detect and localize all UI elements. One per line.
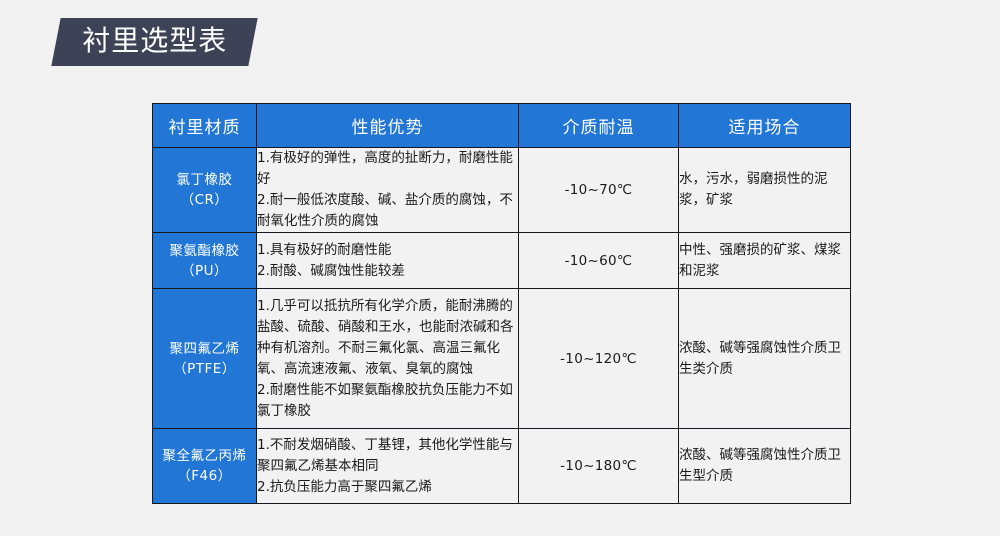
performance-line: 2.耐一般低浓度酸、碱、盐介质的腐蚀，不耐氧化性介质的腐蚀 xyxy=(257,190,518,232)
table-row: 氯丁橡胶 （CR） 1.有极好的弹性，高度的扯断力，耐磨性能好 2.耐一般低浓度… xyxy=(153,148,851,233)
cell-material: 聚全氟乙丙烯 （F46） xyxy=(153,429,257,504)
performance-line: 1.有极好的弹性，高度的扯断力，耐磨性能好 xyxy=(257,148,518,190)
column-header-material: 衬里材质 xyxy=(153,104,257,148)
lining-selection-table: 衬里材质 性能优势 介质耐温 适用场合 氯丁橡胶 （CR） 1.有极好的弹性，高… xyxy=(152,103,851,504)
cell-material: 聚四氟乙烯 （PTFE） xyxy=(153,289,257,429)
table-row: 聚氨酯橡胶 （PU） 1.具有极好的耐磨性能 2.耐酸、碱腐蚀性能较差 -10~… xyxy=(153,233,851,289)
material-name: 氯丁橡胶 xyxy=(177,172,233,188)
material-abbr: （PU） xyxy=(153,261,256,281)
cell-performance: 1.几乎可以抵抗所有化学介质，能耐沸腾的盐酸、硫酸、硝酸和王水，也能耐浓碱和各种… xyxy=(257,289,519,429)
column-header-usage: 适用场合 xyxy=(679,104,851,148)
performance-line: 2.抗负压能力高于聚四氟乙烯 xyxy=(257,477,518,498)
page-title: 衬里选型表 xyxy=(82,24,227,58)
material-name: 聚全氟乙丙烯 xyxy=(163,448,247,464)
column-header-performance: 性能优势 xyxy=(257,104,519,148)
cell-performance: 1.不耐发烟硝酸、丁基锂，其他化学性能与聚四氟乙烯基本相同 2.抗负压能力高于聚… xyxy=(257,429,519,504)
performance-line: 1.具有极好的耐磨性能 xyxy=(257,240,518,261)
performance-line: 1.不耐发烟硝酸、丁基锂，其他化学性能与聚四氟乙烯基本相同 xyxy=(257,435,518,477)
cell-material: 氯丁橡胶 （CR） xyxy=(153,148,257,233)
cell-usage: 水，污水，弱磨损性的泥浆，矿浆 xyxy=(679,148,851,233)
cell-temperature: -10~180℃ xyxy=(519,429,679,504)
table-row: 聚全氟乙丙烯 （F46） 1.不耐发烟硝酸、丁基锂，其他化学性能与聚四氟乙烯基本… xyxy=(153,429,851,504)
cell-usage: 浓酸、碱等强腐蚀性介质卫生型介质 xyxy=(679,429,851,504)
lining-selection-table-wrapper: 衬里材质 性能优势 介质耐温 适用场合 氯丁橡胶 （CR） 1.有极好的弹性，高… xyxy=(152,103,850,504)
cell-performance: 1.具有极好的耐磨性能 2.耐酸、碱腐蚀性能较差 xyxy=(257,233,519,289)
cell-performance: 1.有极好的弹性，高度的扯断力，耐磨性能好 2.耐一般低浓度酸、碱、盐介质的腐蚀… xyxy=(257,148,519,233)
column-header-temperature: 介质耐温 xyxy=(519,104,679,148)
material-name: 聚四氟乙烯 xyxy=(170,341,240,357)
performance-line: 2.耐磨性能不如聚氨酯橡胶抗负压能力不如氯丁橡胶 xyxy=(257,380,518,422)
table-header-row: 衬里材质 性能优势 介质耐温 适用场合 xyxy=(153,104,851,148)
banner-shape: 衬里选型表 xyxy=(51,18,257,66)
cell-material: 聚氨酯橡胶 （PU） xyxy=(153,233,257,289)
cell-temperature: -10~70℃ xyxy=(519,148,679,233)
material-abbr: （CR） xyxy=(153,190,256,210)
material-abbr: （F46） xyxy=(153,466,256,486)
cell-usage: 中性、强磨损的矿浆、煤浆和泥浆 xyxy=(679,233,851,289)
cell-temperature: -10~120℃ xyxy=(519,289,679,429)
material-name: 聚氨酯橡胶 xyxy=(170,243,240,259)
cell-usage: 浓酸、碱等强腐蚀性介质卫生类介质 xyxy=(679,289,851,429)
cell-temperature: -10~60℃ xyxy=(519,233,679,289)
performance-line: 1.几乎可以抵抗所有化学介质，能耐沸腾的盐酸、硫酸、硝酸和王水，也能耐浓碱和各种… xyxy=(257,296,518,380)
performance-line: 2.耐酸、碱腐蚀性能较差 xyxy=(257,261,518,282)
page-title-banner: 衬里选型表 xyxy=(56,18,253,66)
material-abbr: （PTFE） xyxy=(153,359,256,379)
table-row: 聚四氟乙烯 （PTFE） 1.几乎可以抵抗所有化学介质，能耐沸腾的盐酸、硫酸、硝… xyxy=(153,289,851,429)
